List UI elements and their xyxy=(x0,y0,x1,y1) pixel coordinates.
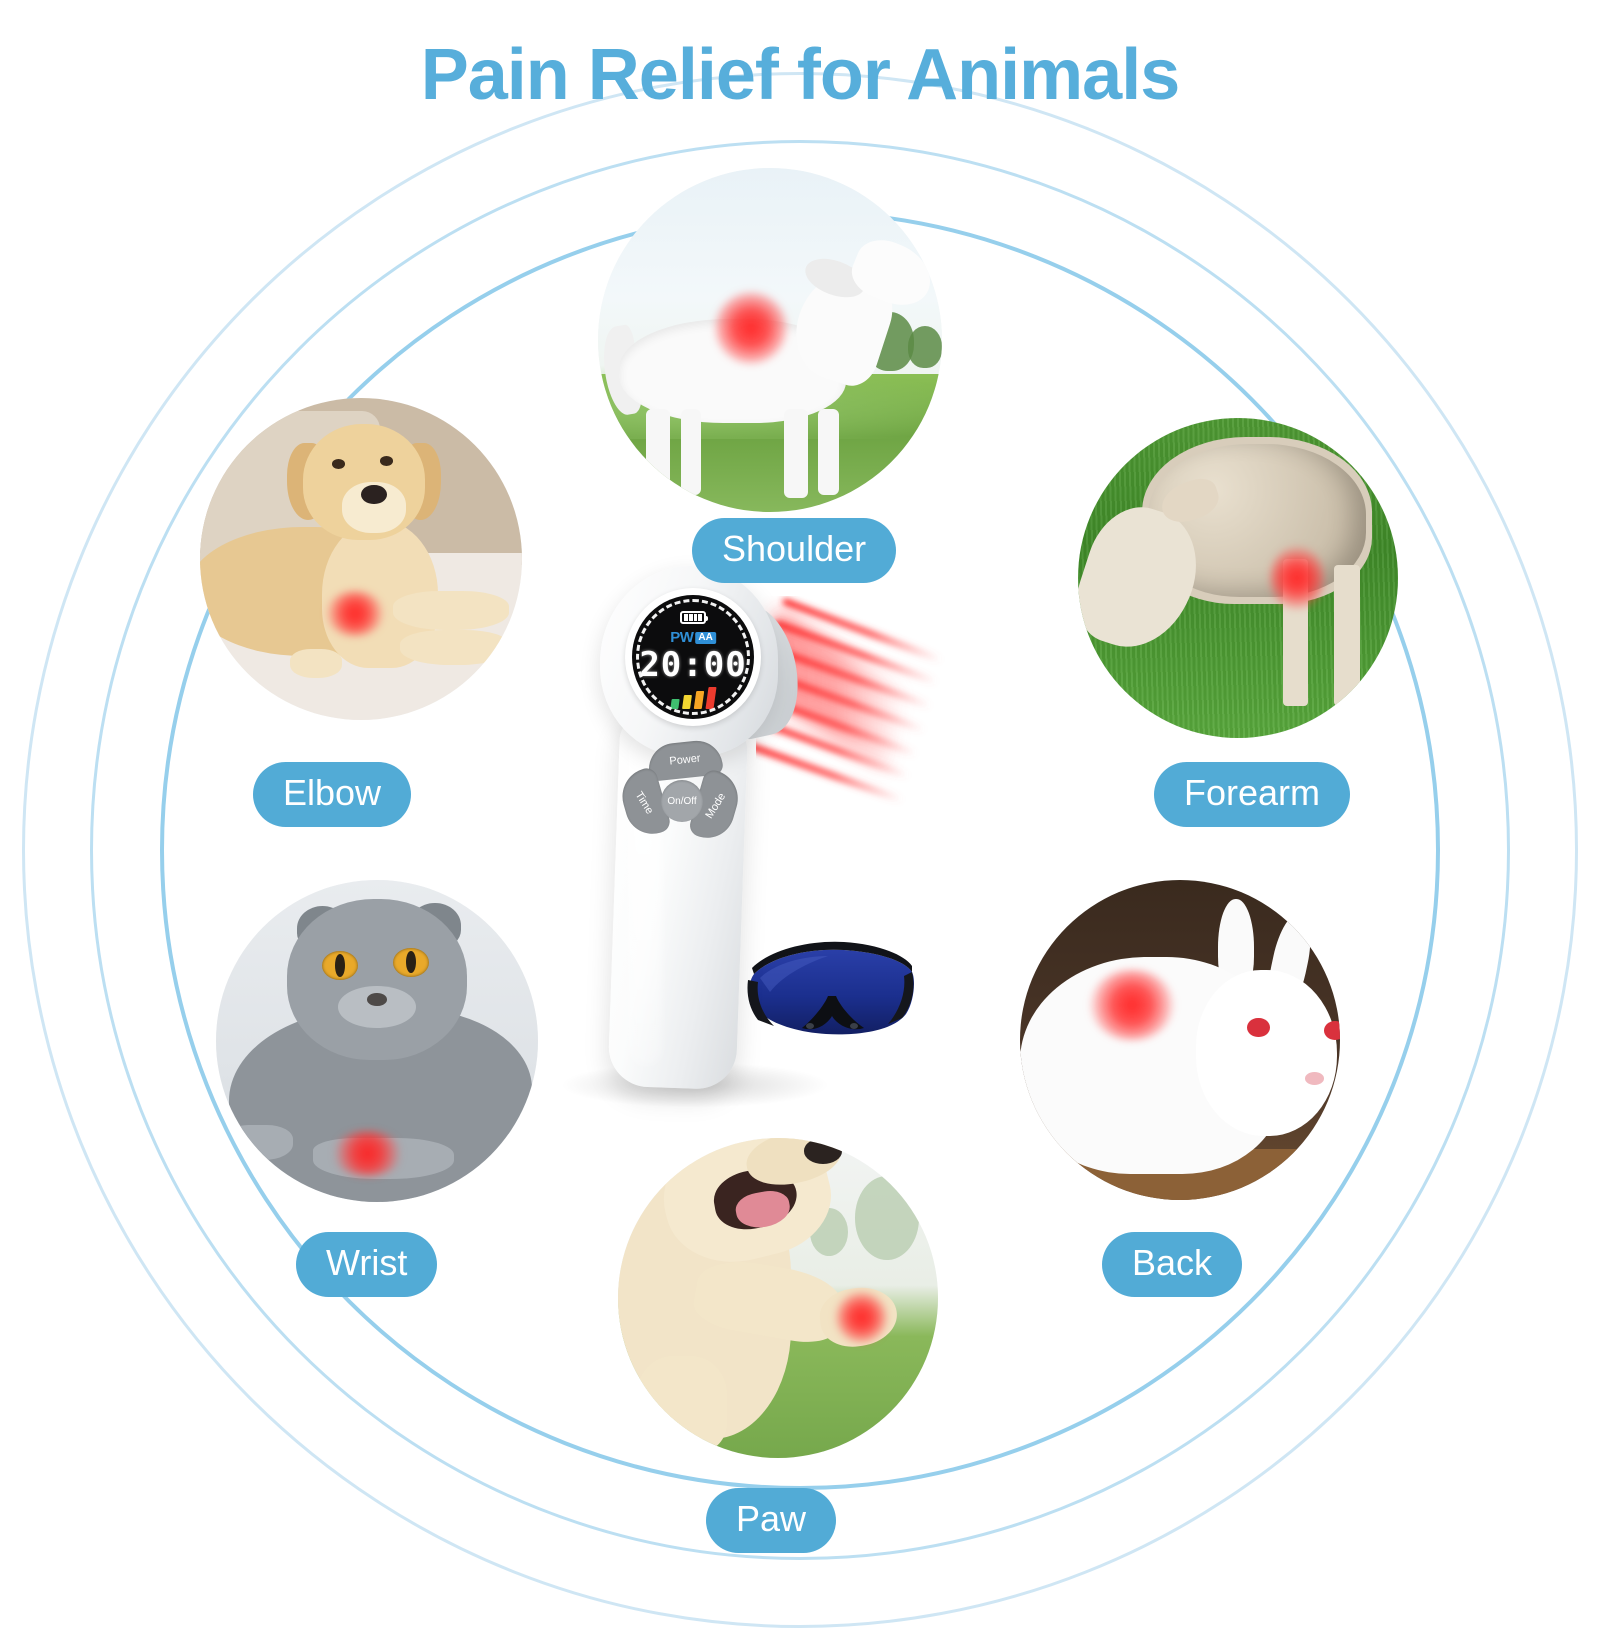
horse-leg xyxy=(784,409,808,498)
rabbit-nose xyxy=(1305,1072,1324,1085)
goggle-rivet xyxy=(806,1023,814,1029)
sheep-leg xyxy=(1283,559,1309,706)
onoff-button[interactable]: On/Off xyxy=(661,780,703,822)
laser-therapy-device[interactable]: PW AA 20:00 Power Time Mode On/O xyxy=(570,566,800,1096)
page-title: Pain Relief for Animals xyxy=(0,34,1600,116)
cat-nose xyxy=(367,993,386,1006)
dog-eye xyxy=(380,456,393,466)
tree-icon xyxy=(855,1176,919,1259)
horse-leg xyxy=(646,409,670,498)
power-button-label: Power xyxy=(669,752,701,767)
rabbit-eye xyxy=(1247,1018,1269,1037)
bubble-paw xyxy=(618,1138,938,1458)
cat-head xyxy=(287,899,467,1060)
bubble-wrist xyxy=(216,880,538,1202)
dog-paw xyxy=(393,591,509,630)
dog-photo xyxy=(200,398,522,720)
onoff-button-label: On/Off xyxy=(667,796,696,807)
cat-paw xyxy=(313,1138,455,1180)
bubble-back xyxy=(1020,880,1340,1200)
time-button-label: Time xyxy=(633,790,656,817)
horse-leg xyxy=(818,409,839,495)
dog-eye xyxy=(332,459,345,469)
rabbit-eye xyxy=(1324,1021,1340,1040)
cat-pupil xyxy=(335,954,345,977)
label-wrist[interactable]: Wrist xyxy=(296,1232,437,1297)
puppy-photo xyxy=(618,1138,938,1458)
mode-button-label: Mode xyxy=(704,791,729,821)
bubble-forearm xyxy=(1078,418,1398,738)
rabbit-head xyxy=(1196,970,1337,1136)
sheep-leg xyxy=(1334,565,1360,706)
rabbit-photo xyxy=(1020,880,1340,1200)
infographic-canvas: Pain Relief for Animals Shoulder xyxy=(0,0,1600,1600)
label-back[interactable]: Back xyxy=(1102,1232,1242,1297)
sheep-photo xyxy=(1078,418,1398,738)
label-forearm[interactable]: Forearm xyxy=(1154,762,1350,827)
goggle-rivet xyxy=(850,1023,858,1029)
button-pad: Power Time Mode On/Off xyxy=(624,742,744,860)
puppy-nose xyxy=(804,1138,842,1164)
tree-icon xyxy=(908,326,942,367)
horse-photo xyxy=(598,168,942,512)
cat-pupil xyxy=(406,951,416,974)
dog-paw xyxy=(290,649,342,678)
cat-photo xyxy=(216,880,538,1202)
label-paw[interactable]: Paw xyxy=(706,1488,836,1553)
bubble-shoulder xyxy=(598,168,942,512)
cat-paw xyxy=(229,1125,293,1160)
bubble-elbow xyxy=(200,398,522,720)
label-shoulder[interactable]: Shoulder xyxy=(692,518,896,583)
puppy-hindleg xyxy=(637,1356,727,1452)
dog-paw xyxy=(400,630,509,665)
horse-leg xyxy=(681,409,702,495)
dog-nose xyxy=(361,485,387,504)
screen-dashed-ring xyxy=(636,599,750,715)
label-elbow[interactable]: Elbow xyxy=(253,762,411,827)
